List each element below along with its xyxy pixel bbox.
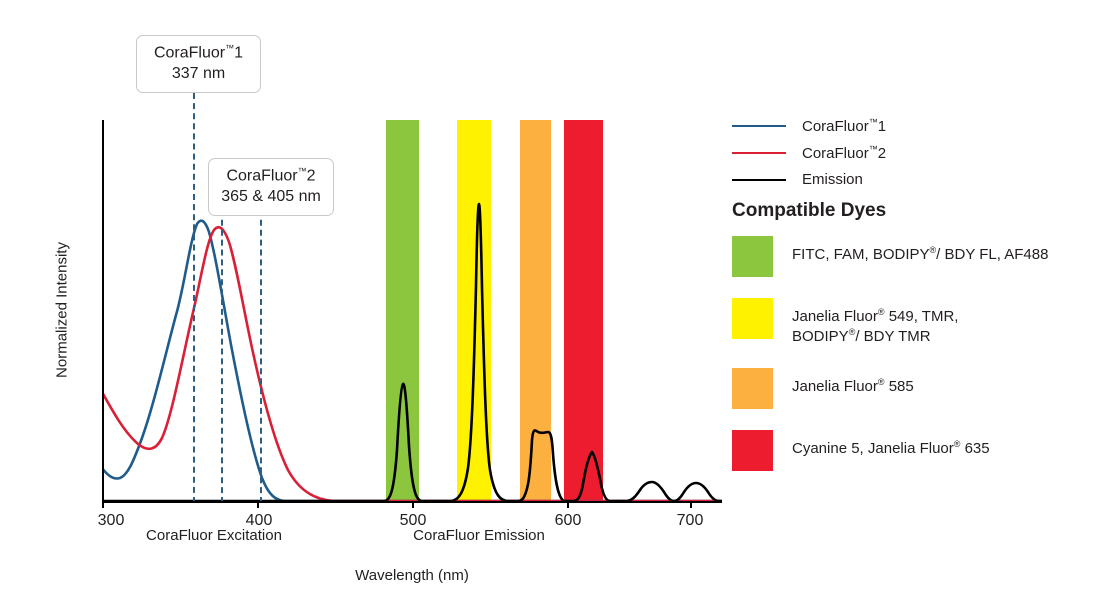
compatible-dyes-title: Compatible Dyes xyxy=(732,200,886,222)
caption-excitation: CoraFluor Excitation xyxy=(146,527,282,544)
legend-item-corafluor-2: CoraFluor™2 xyxy=(732,139,1102,166)
legend-line-corafluor-1 xyxy=(732,125,786,127)
x-ticklabel-300: 300 xyxy=(98,512,125,530)
x-tick-600 xyxy=(567,501,569,508)
x-ticklabel-700: 700 xyxy=(677,512,704,530)
dye-label-janelia-585: Janelia Fluor® 585 xyxy=(792,368,914,397)
spectra-figure: 300 400 500 600 700 CoraFluor Excitation… xyxy=(0,0,1110,612)
dye-swatch-green xyxy=(732,236,773,277)
dye-row-janelia-585: Janelia Fluor® 585 xyxy=(732,368,1107,409)
dye-label-fitc: FITC, FAM, BODIPY®/ BDY FL, AF488 xyxy=(792,236,1048,265)
dye-swatch-yellow xyxy=(732,298,773,339)
x-ticklabel-600: 600 xyxy=(555,512,582,530)
marker-405nm xyxy=(260,200,262,503)
marker-337nm xyxy=(193,93,195,503)
marker-365nm xyxy=(221,200,223,503)
legend-line-emission xyxy=(732,179,786,181)
legend-item-corafluor-1: CoraFluor™1 xyxy=(732,112,1102,139)
legend-item-emission: Emission xyxy=(732,166,1102,193)
y-axis-label: Normalized Intensity xyxy=(54,242,71,378)
callout-corafluor-2: CoraFluor™2 365 & 405 nm xyxy=(208,158,334,216)
callout-1-line1: CoraFluor™1 xyxy=(149,43,248,64)
dye-row-fitc: FITC, FAM, BODIPY®/ BDY FL, AF488 xyxy=(732,236,1107,277)
legend-line-corafluor-2 xyxy=(732,152,786,154)
compatible-dyes-list: FITC, FAM, BODIPY®/ BDY FL, AF488 Janeli… xyxy=(732,236,1107,492)
dye-label-cyanine-5: Cyanine 5, Janelia Fluor® 635 xyxy=(792,430,990,459)
x-axis-label: Wavelength (nm) xyxy=(355,567,469,584)
x-tick-400 xyxy=(257,501,259,508)
x-tick-300 xyxy=(102,501,104,508)
legend-label-corafluor-1: CoraFluor™1 xyxy=(802,117,886,135)
curve-corafluor-1 xyxy=(102,221,722,501)
dye-swatch-red xyxy=(732,430,773,471)
x-tick-700 xyxy=(690,501,692,508)
curve-corafluor-2 xyxy=(102,227,722,501)
dye-row-cyanine-5: Cyanine 5, Janelia Fluor® 635 xyxy=(732,430,1107,471)
x-tick-500 xyxy=(412,501,414,508)
callout-1-line2: 337 nm xyxy=(149,64,248,84)
dye-swatch-orange xyxy=(732,368,773,409)
dye-row-janelia-549: Janelia Fluor® 549, TMR, BODIPY®/ BDY TM… xyxy=(732,298,1107,347)
y-axis xyxy=(102,120,104,503)
plot-area: 300 400 500 600 700 xyxy=(102,120,722,503)
legend-label-corafluor-2: CoraFluor™2 xyxy=(802,144,886,162)
callout-2-line1: CoraFluor™2 xyxy=(221,166,321,187)
dye-label-janelia-549: Janelia Fluor® 549, TMR, BODIPY®/ BDY TM… xyxy=(792,298,958,347)
callout-corafluor-1: CoraFluor™1 337 nm xyxy=(136,35,261,93)
curve-emission xyxy=(102,204,722,501)
callout-2-line2: 365 & 405 nm xyxy=(221,187,321,207)
series-legend: CoraFluor™1 CoraFluor™2 Emission xyxy=(732,112,1102,193)
legend-label-emission: Emission xyxy=(802,171,863,188)
caption-emission: CoraFluor Emission xyxy=(413,527,545,544)
spectra-curves xyxy=(102,120,722,503)
